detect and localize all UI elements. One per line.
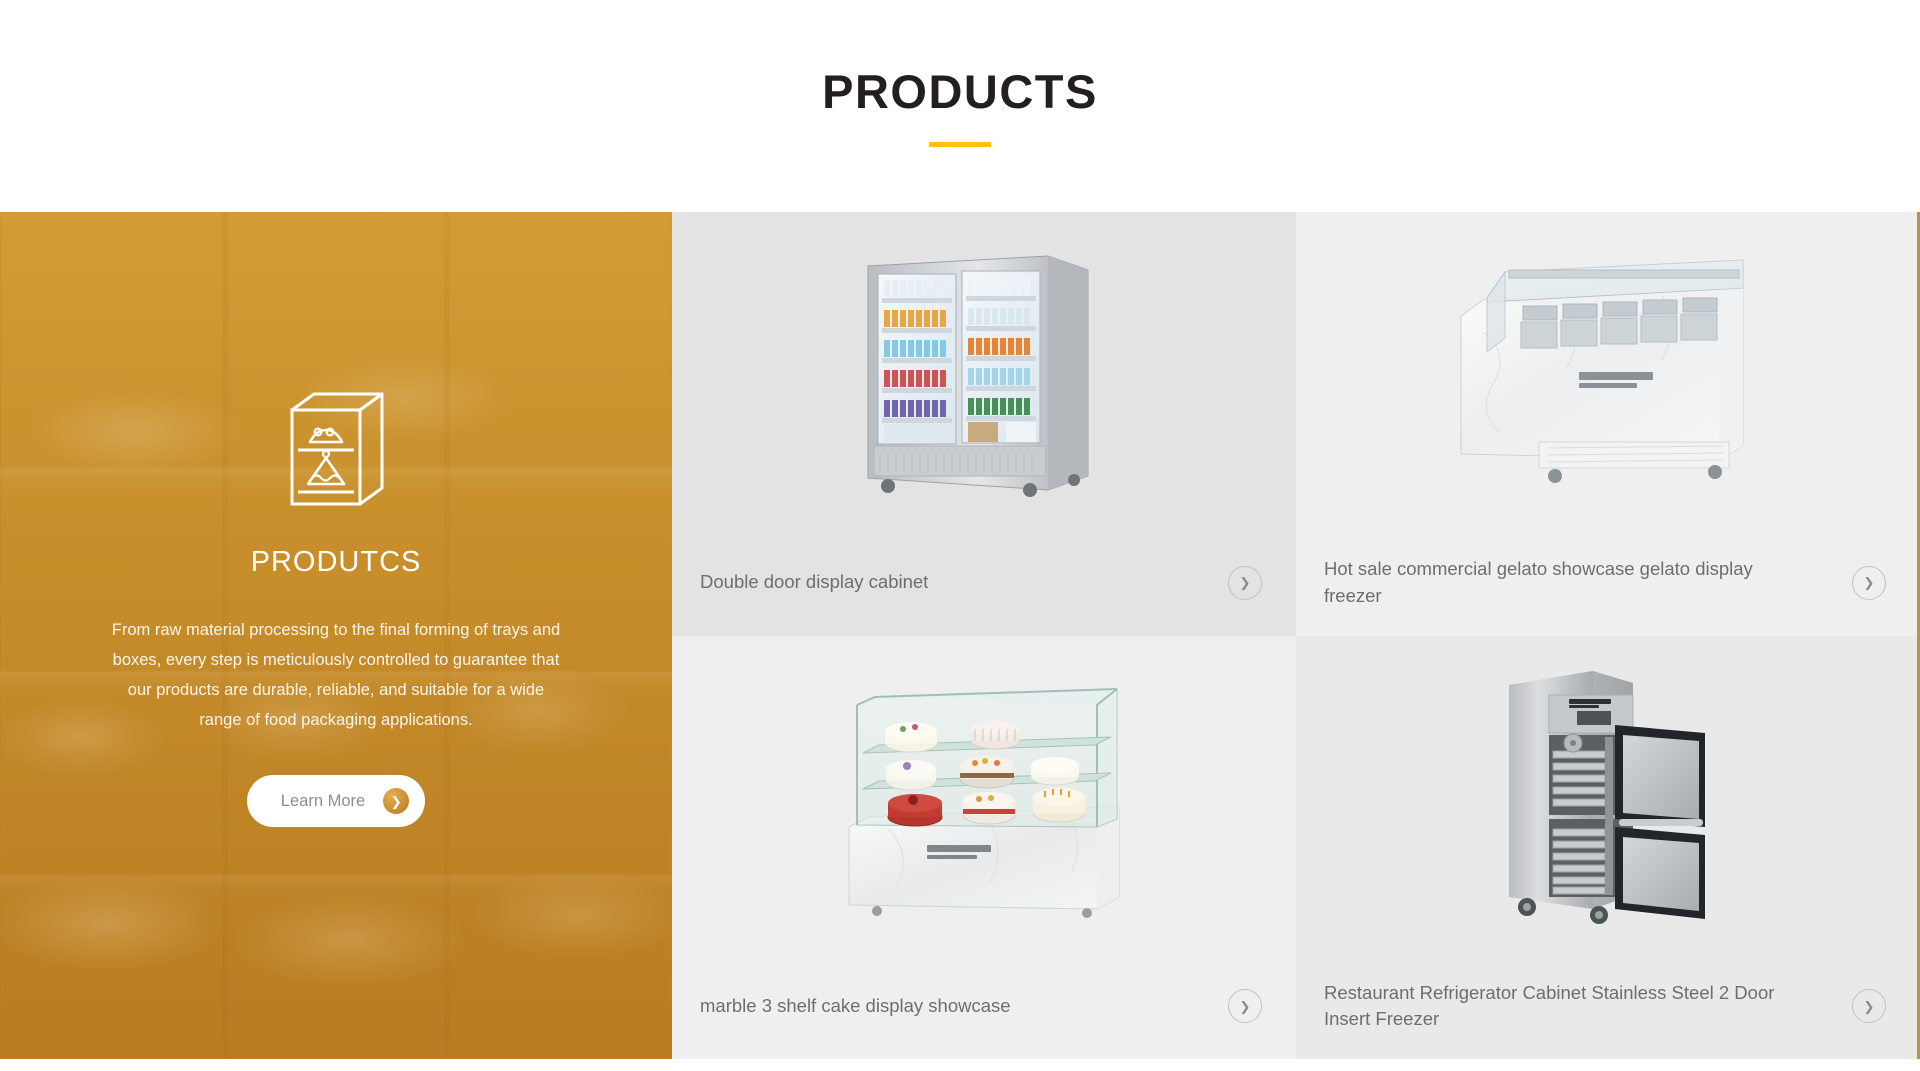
stainless-steel-2-door-freezer-image [1473,659,1743,929]
page-title: PRODUCTS [0,68,1920,115]
chevron-right-icon[interactable]: ❯ [1228,989,1262,1023]
product-image [672,212,1296,530]
product-grid: Double door display cabinet ❯ [672,212,1920,1059]
chevron-right-icon[interactable]: ❯ [1228,566,1262,600]
promo-description: From raw material processing to the fina… [109,615,564,735]
chevron-right-icon[interactable]: ❯ [1852,989,1886,1023]
learn-more-button[interactable]: Learn More ❯ [247,775,425,827]
marble-cake-display-case-image [819,669,1149,919]
learn-more-label: Learn More [281,792,365,811]
chevron-right-icon: ❯ [383,788,409,814]
products-page: PRODUCTS [0,0,1920,1071]
product-title: Double door display cabinet [700,569,928,595]
product-title: Restaurant Refrigerator Cabinet Stainles… [1324,980,1784,1033]
product-card[interactable]: marble 3 shelf cake display showcase ❯ [672,636,1296,1060]
product-card[interactable]: Restaurant Refrigerator Cabinet Stainles… [1296,636,1920,1060]
product-card[interactable]: Double door display cabinet ❯ [672,212,1296,636]
chevron-right-icon[interactable]: ❯ [1852,566,1886,600]
page-header: PRODUCTS [0,0,1920,212]
product-image [1296,636,1920,954]
promo-panel: PRODUTCS From raw material processing to… [0,212,672,1059]
products-content: PRODUTCS From raw material processing to… [0,212,1920,1059]
promo-title: PRODUTCS [251,546,422,579]
product-image [1296,212,1920,530]
double-door-beverage-cooler-image [834,240,1134,502]
cake-display-cabinet-icon [284,388,388,512]
product-title: marble 3 shelf cake display showcase [700,993,1011,1019]
title-underline [929,142,991,147]
marble-gelato-showcase-image [1443,246,1773,496]
product-card[interactable]: Hot sale commercial gelato showcase gela… [1296,212,1920,636]
product-title: Hot sale commercial gelato showcase gela… [1324,556,1784,609]
product-image [672,636,1296,954]
